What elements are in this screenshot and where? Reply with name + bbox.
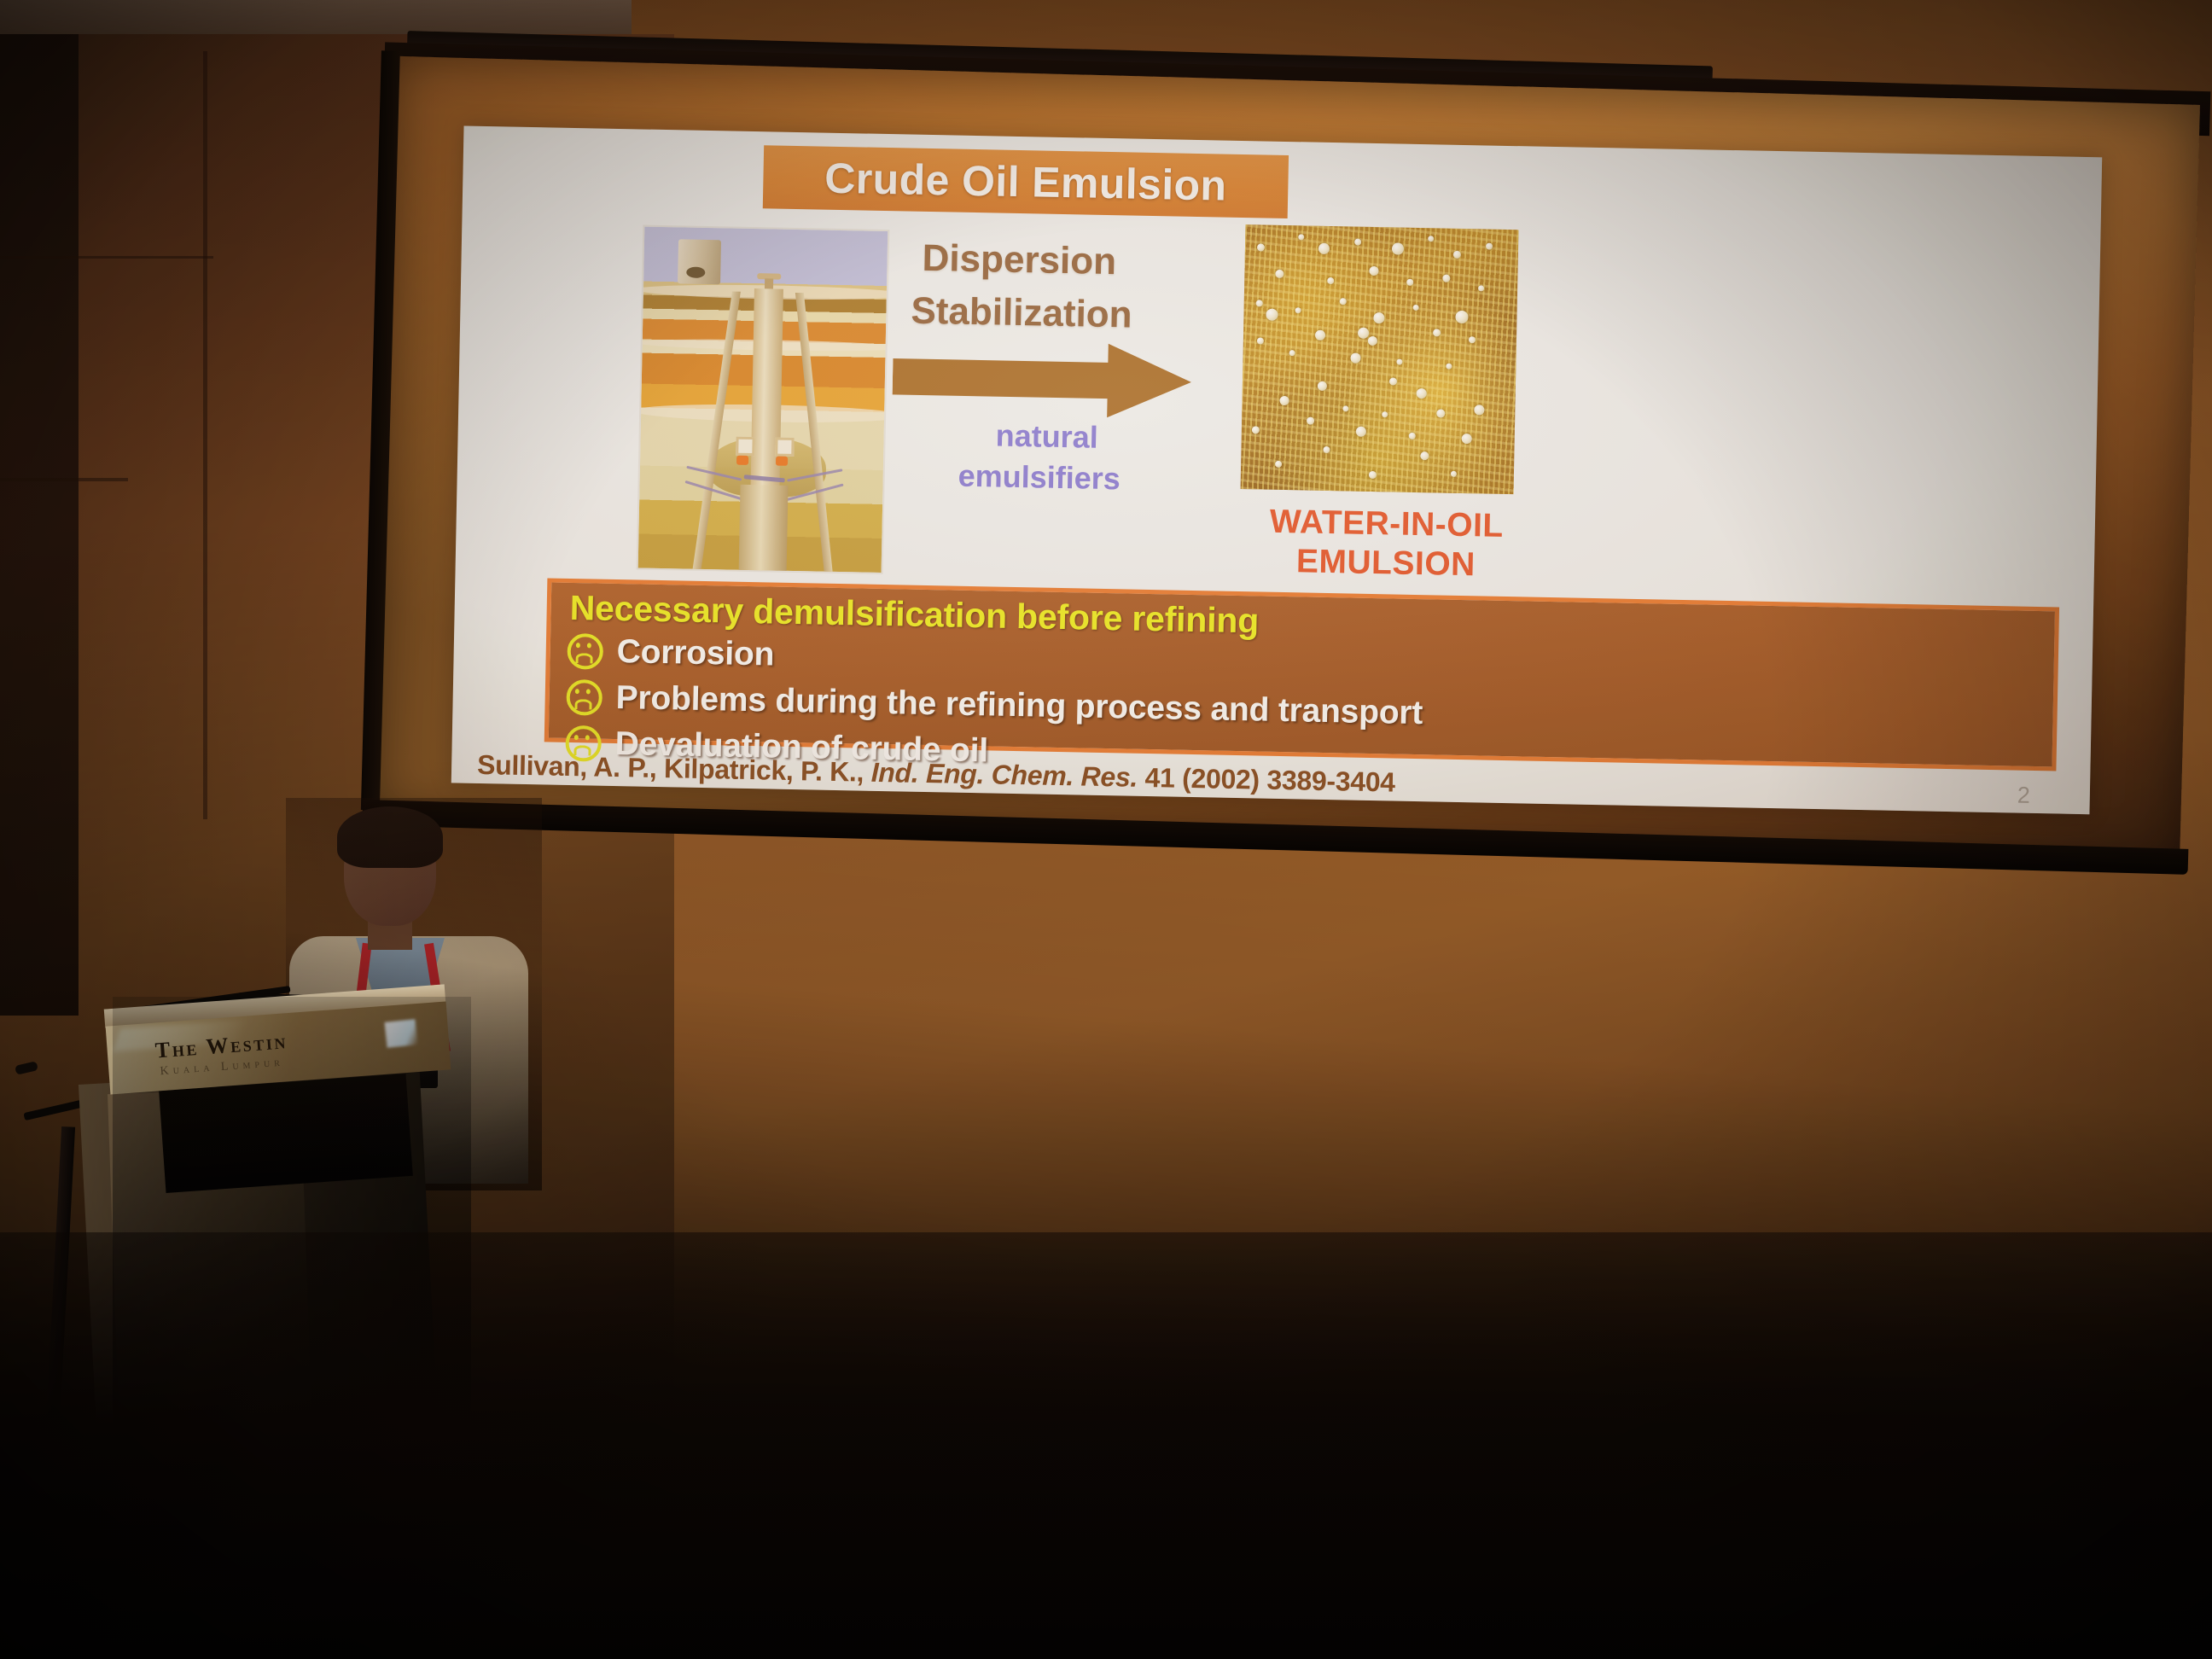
citation-details: 41 (2002) 3389-3404: [1144, 762, 1395, 798]
slide-page-number: 2: [2017, 783, 2031, 809]
figure-label-emulsion: EMULSION: [1207, 541, 1566, 585]
storage-tank-icon: [678, 239, 721, 284]
process-label-dispersion: Dispersion: [922, 237, 1116, 283]
wall-seam: [0, 478, 128, 481]
citation-journal: Ind. Eng. Chem. Res.: [870, 757, 1138, 793]
speaker-hair: [337, 806, 443, 868]
slide-title-banner: Crude Oil Emulsion: [763, 145, 1289, 218]
wall-seam: [203, 51, 207, 819]
list-item: Problems during the refining process and…: [566, 678, 1423, 732]
presentation-slide: Crude Oil Emulsion: [451, 125, 2102, 814]
right-arrow-icon: [892, 337, 1192, 422]
podium-shelf-shadow: [159, 1074, 413, 1193]
callout-box: Necessary demulsification before refinin…: [544, 578, 2059, 771]
arrow-label-natural: natural: [901, 416, 1192, 457]
list-item: Corrosion: [567, 632, 774, 674]
sad-face-icon: [566, 679, 602, 716]
bullet-text: Corrosion: [616, 633, 774, 674]
projection-screen: Crude Oil Emulsion: [319, 15, 2212, 885]
process-label-stabilization: Stabilization: [911, 290, 1132, 337]
callout-heading: Necessary demulsification before refinin…: [569, 588, 1259, 641]
citation-authors: Sullivan, A. P., Kilpatrick, P. K.,: [477, 749, 864, 788]
wall-dark-column: [0, 34, 79, 1016]
emulsion-micrograph-figure: [1241, 224, 1519, 494]
podium-edge-glare: [385, 1019, 418, 1048]
floor-shadow: [0, 1232, 2212, 1659]
wall-seam: [0, 256, 213, 259]
bullet-text: Problems during the refining process and…: [615, 679, 1423, 732]
slide-title: Crude Oil Emulsion: [824, 154, 1227, 211]
sad-face-icon: [567, 633, 603, 670]
figure-label-water-in-oil: WATER-IN-OIL: [1207, 502, 1566, 546]
conference-photo-scene: Crude Oil Emulsion: [0, 0, 2212, 1659]
arrow-label-emulsifiers: emulsifiers: [894, 457, 1185, 498]
oil-well-cross-section-figure: [637, 225, 890, 574]
